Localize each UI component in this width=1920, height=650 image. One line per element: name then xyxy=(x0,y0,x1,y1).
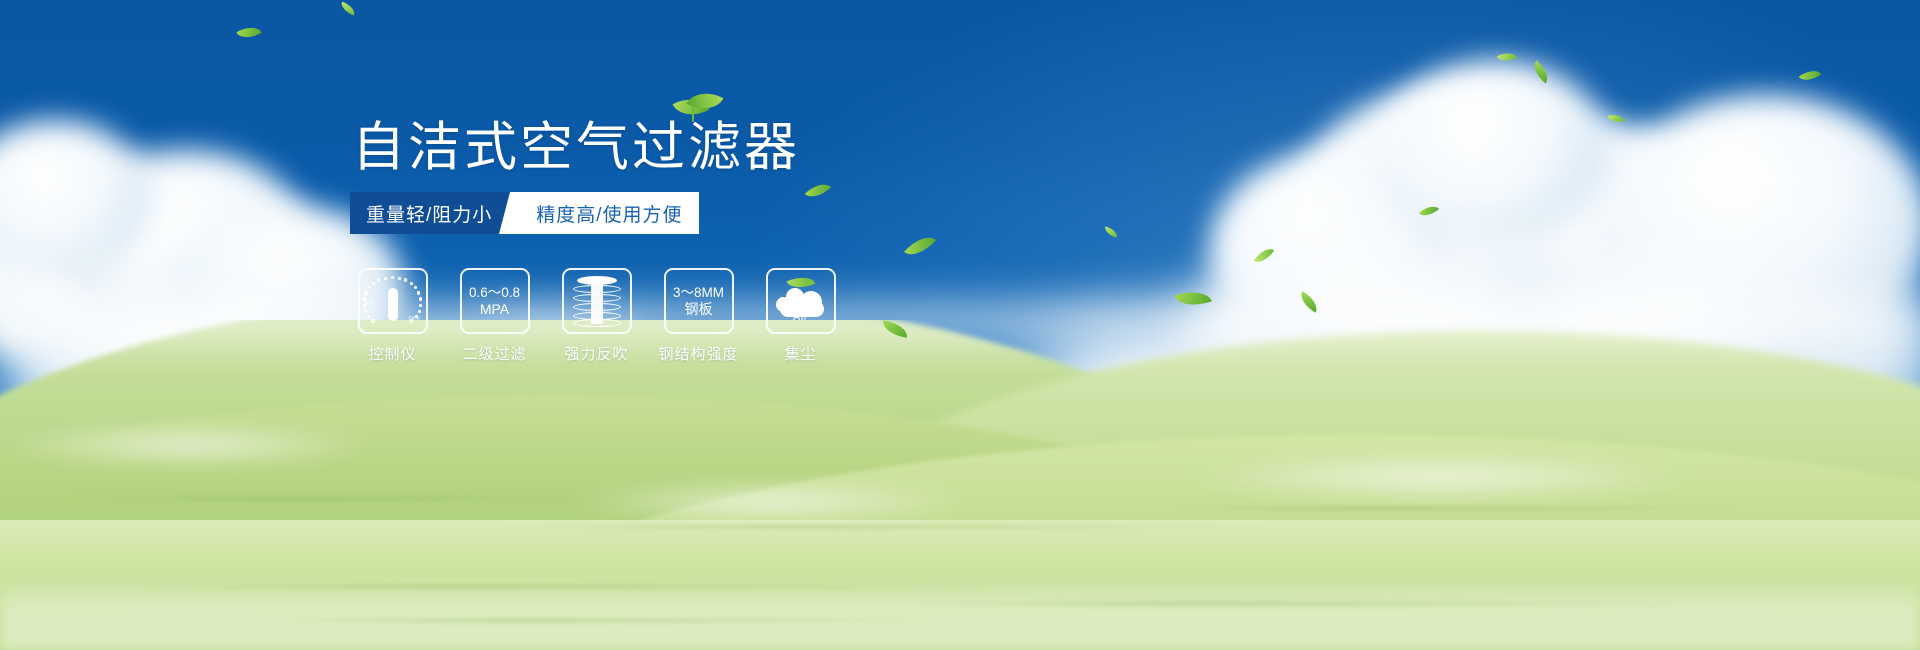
feature-item-dust[interactable]: Air 集尘 xyxy=(763,268,838,364)
backblow-coil-icon xyxy=(562,268,632,334)
feature-item-steel[interactable]: 3～8MM 钢板 钢结构强度 xyxy=(661,268,736,364)
pressure-value: 0.6～0.8 xyxy=(469,284,520,301)
steel-thickness: 3～8MM xyxy=(673,284,724,301)
feature-label: 集尘 xyxy=(784,343,816,364)
air-label: Air xyxy=(772,311,830,323)
dial-tag-no: NO xyxy=(365,301,374,307)
steel-plate-text-icon: 3～8MM 钢板 xyxy=(664,268,734,334)
subtitle-band: 重量轻/阻力小 精度高/使用方便 xyxy=(350,192,699,234)
pressure-text-icon: 0.6～0.8 MPA xyxy=(460,268,530,334)
page-title: 自洁式空气过滤器 xyxy=(352,118,800,178)
steel-material: 钢板 xyxy=(685,301,713,318)
feature-label: 二级过滤 xyxy=(462,343,526,364)
feature-label: 强力反吹 xyxy=(564,343,628,364)
feature-item-backblow[interactable]: 强力反吹 xyxy=(559,268,634,364)
subtitle-left: 重量轻/阻力小 xyxy=(350,192,512,234)
feature-item-pressure[interactable]: 0.6～0.8 MPA 二级过滤 xyxy=(457,268,532,364)
control-dial-icon: NO OFF xyxy=(358,268,428,334)
banner-content: 自洁式空气过滤器 重量轻/阻力小 精度高/使用方便 xyxy=(0,0,1920,650)
feature-label: 钢结构强度 xyxy=(659,343,739,364)
feature-item-control[interactable]: NO OFF 控制仪 xyxy=(355,268,430,364)
pressure-unit: MPA xyxy=(480,301,509,318)
feature-label: 控制仪 xyxy=(368,343,416,364)
subtitle-right: 精度高/使用方便 xyxy=(510,192,698,234)
feature-icon-row: NO OFF 控制仪 0.6～0.8 MPA 二级过滤 xyxy=(355,268,838,364)
coil-graphic xyxy=(573,276,621,326)
dial-needle xyxy=(388,288,398,321)
air-cloud-icon: Air xyxy=(766,268,836,334)
dial-tag-off: OFF xyxy=(408,316,420,322)
product-banner: 自洁式空气过滤器 重量轻/阻力小 精度高/使用方便 xyxy=(0,0,1920,650)
cloud-graphic: Air xyxy=(772,277,830,325)
dial-graphic: NO OFF xyxy=(365,275,421,327)
